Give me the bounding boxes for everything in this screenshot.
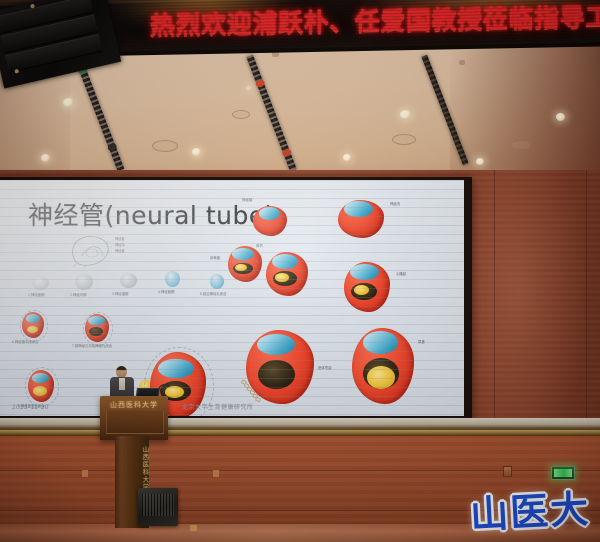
- embryo-figure: [338, 200, 384, 238]
- yolk-sac: [354, 285, 369, 295]
- ceiling-downlight: [246, 86, 252, 91]
- presenter-shirt: [119, 378, 125, 390]
- ceiling-downlight: [400, 110, 411, 119]
- amniotic-cavity: [258, 360, 295, 390]
- embryo-figure: [344, 262, 390, 312]
- embryo-stage-caption: 5.前后神经孔闭合: [200, 292, 227, 296]
- embryo-stage-blob: [210, 274, 224, 289]
- embryo-stage-blob: [32, 276, 49, 290]
- neural-tube-region: [88, 316, 104, 326]
- figure-caption: 神经褶: [242, 198, 252, 202]
- neural-tube-region: [257, 334, 295, 355]
- embryo-lineart-sketch: [68, 232, 114, 268]
- slide-title: 神经管(neural tube): [28, 196, 275, 232]
- ceiling-downlight: [343, 154, 351, 161]
- ceiling-downlight: [192, 148, 201, 156]
- ceiling-downlight: [556, 113, 565, 121]
- figure-caption: 胚体弯曲: [318, 366, 332, 370]
- speaker-grille: [142, 494, 174, 516]
- figure-caption: 神经沟: [390, 202, 400, 206]
- projection-screen-frame: 神经管(neural tube) 神经板 神经沟 神经管 1.神经板期 2.神经…: [0, 177, 472, 421]
- figure-caption: 7.前神经孔与后神经孔闭合: [72, 344, 124, 348]
- embryo-stage-caption: 3.神经褶期: [112, 292, 128, 296]
- sketch-label: 神经管: [115, 248, 125, 253]
- stage-monitor-speaker: [138, 488, 178, 526]
- neural-tube-region: [259, 207, 280, 220]
- ceiling-vent: [232, 110, 250, 119]
- ceiling-light-trough: [246, 55, 296, 171]
- lecture-hall-photo: 神经管(neural tube) 神经板 神经沟 神经管 1.神经板期 2.神经…: [0, 0, 600, 542]
- wall-outlet-icon: [213, 470, 219, 477]
- ceiling-shadow-right: [450, 46, 600, 186]
- figure-caption: 心隆起: [396, 272, 406, 276]
- embryo-stage-caption: 1.神经板期: [28, 293, 44, 297]
- ceiling-light-trough: [75, 57, 125, 172]
- embryo-stage-caption: 4.神经管期: [158, 290, 174, 294]
- embryo-figure: [22, 312, 44, 338]
- embryo-figure: [85, 314, 109, 342]
- embryo-figure: [253, 206, 287, 236]
- figure-caption: 尿囊: [418, 340, 425, 344]
- sketch-label: 神经沟: [115, 242, 125, 247]
- embryo-stage-blob: [120, 273, 137, 288]
- exit-sign-glow: [554, 469, 572, 477]
- embryo-stage-caption: 2.神经沟期: [70, 293, 86, 297]
- ceiling-vent: [392, 134, 416, 145]
- embryo-stage-blob: [75, 274, 93, 290]
- yolk-sac: [33, 386, 48, 396]
- neural-tube-region: [350, 264, 379, 280]
- yolk-sac: [275, 273, 288, 282]
- figure-caption: 卵黄囊: [210, 256, 220, 260]
- wall-outlet-icon: [82, 470, 88, 477]
- ceiling-downlight: [63, 98, 74, 107]
- podium: 山西医科大学: [100, 396, 168, 440]
- neural-tube-region: [272, 254, 298, 269]
- watermark: 山医大: [469, 478, 592, 539]
- figure-caption: 6.神经管中段闭合: [12, 340, 60, 344]
- figure-caption: 体节: [256, 244, 263, 248]
- neural-tube-region: [158, 359, 194, 379]
- podium-institution-name: 山西医科大学: [100, 400, 168, 410]
- podium-column-name: 山西医科大学: [115, 446, 149, 491]
- ceiling-downlight: [476, 158, 484, 165]
- ceiling-downlight: [41, 154, 50, 162]
- yolk-sac: [367, 366, 396, 389]
- embryo-stage-blob: [165, 271, 180, 287]
- embryo-figure: [228, 246, 262, 282]
- ceiling-vent: [511, 140, 531, 150]
- ceiling-fixture: [459, 60, 465, 65]
- yolk-sac: [27, 326, 38, 333]
- wall-switch-icon[interactable]: [503, 466, 512, 477]
- ceiling-vent: [152, 140, 178, 152]
- speaker-mount-dot: [14, 69, 19, 74]
- embryo-figure: [28, 370, 54, 402]
- projection-screen[interactable]: 神经管(neural tube) 神经板 神经沟 神经管 1.神经板期 2.神经…: [0, 180, 464, 416]
- slide-source: 北京大学生育健康研究所: [182, 402, 254, 411]
- floor-marker: [190, 525, 197, 531]
- slide-date: 2023-11-20: [12, 404, 49, 411]
- sketch-label: 神经板: [115, 236, 125, 241]
- embryo-figure: [352, 328, 414, 404]
- neural-tube-region: [363, 331, 398, 354]
- embryo-figure: [266, 252, 308, 296]
- podium-front-face: [106, 410, 164, 434]
